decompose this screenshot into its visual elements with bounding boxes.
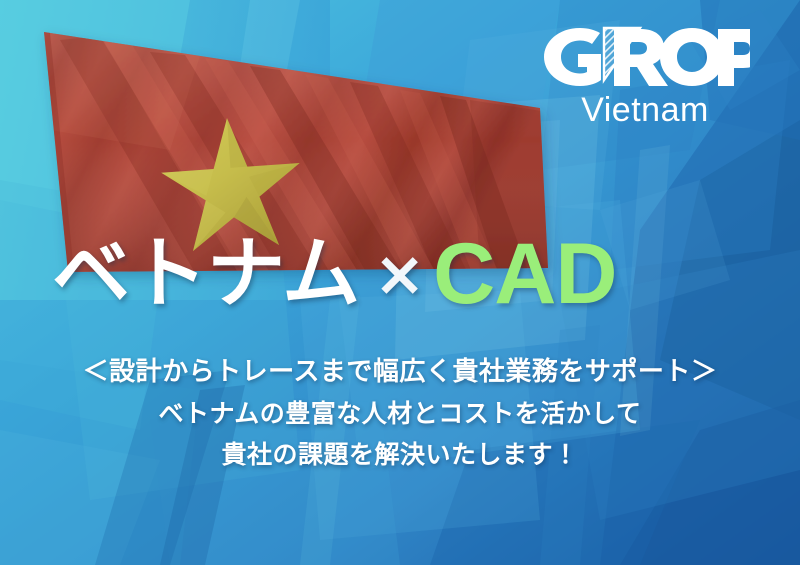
headline: ベトナム × CAD xyxy=(52,228,752,320)
subcopy-line-2: ベトナムの豊富な人材とコストを活かして xyxy=(0,393,800,434)
subcopy-block: ＜設計からトレースまで幅広く貴社業務をサポート＞ ベトナムの豊富な人材とコストを… xyxy=(0,352,800,475)
headline-right-text: CAD xyxy=(433,231,616,317)
headline-separator-icon: × xyxy=(374,243,425,305)
logo-block: Vietnam xyxy=(540,24,750,129)
subcopy-line-1: ＜設計からトレースまで幅広く貴社業務をサポート＞ xyxy=(0,352,800,393)
headline-left-text: ベトナム xyxy=(52,235,360,313)
grop-logo-icon xyxy=(540,24,750,90)
promo-banner: Vietnam ベトナム × CAD ＜設計からトレースまで幅広く貴社業務をサポ… xyxy=(0,0,800,565)
logo-region-label: Vietnam xyxy=(540,92,750,129)
subcopy-line-3: 貴社の課題を解決いたします！ xyxy=(0,434,800,475)
